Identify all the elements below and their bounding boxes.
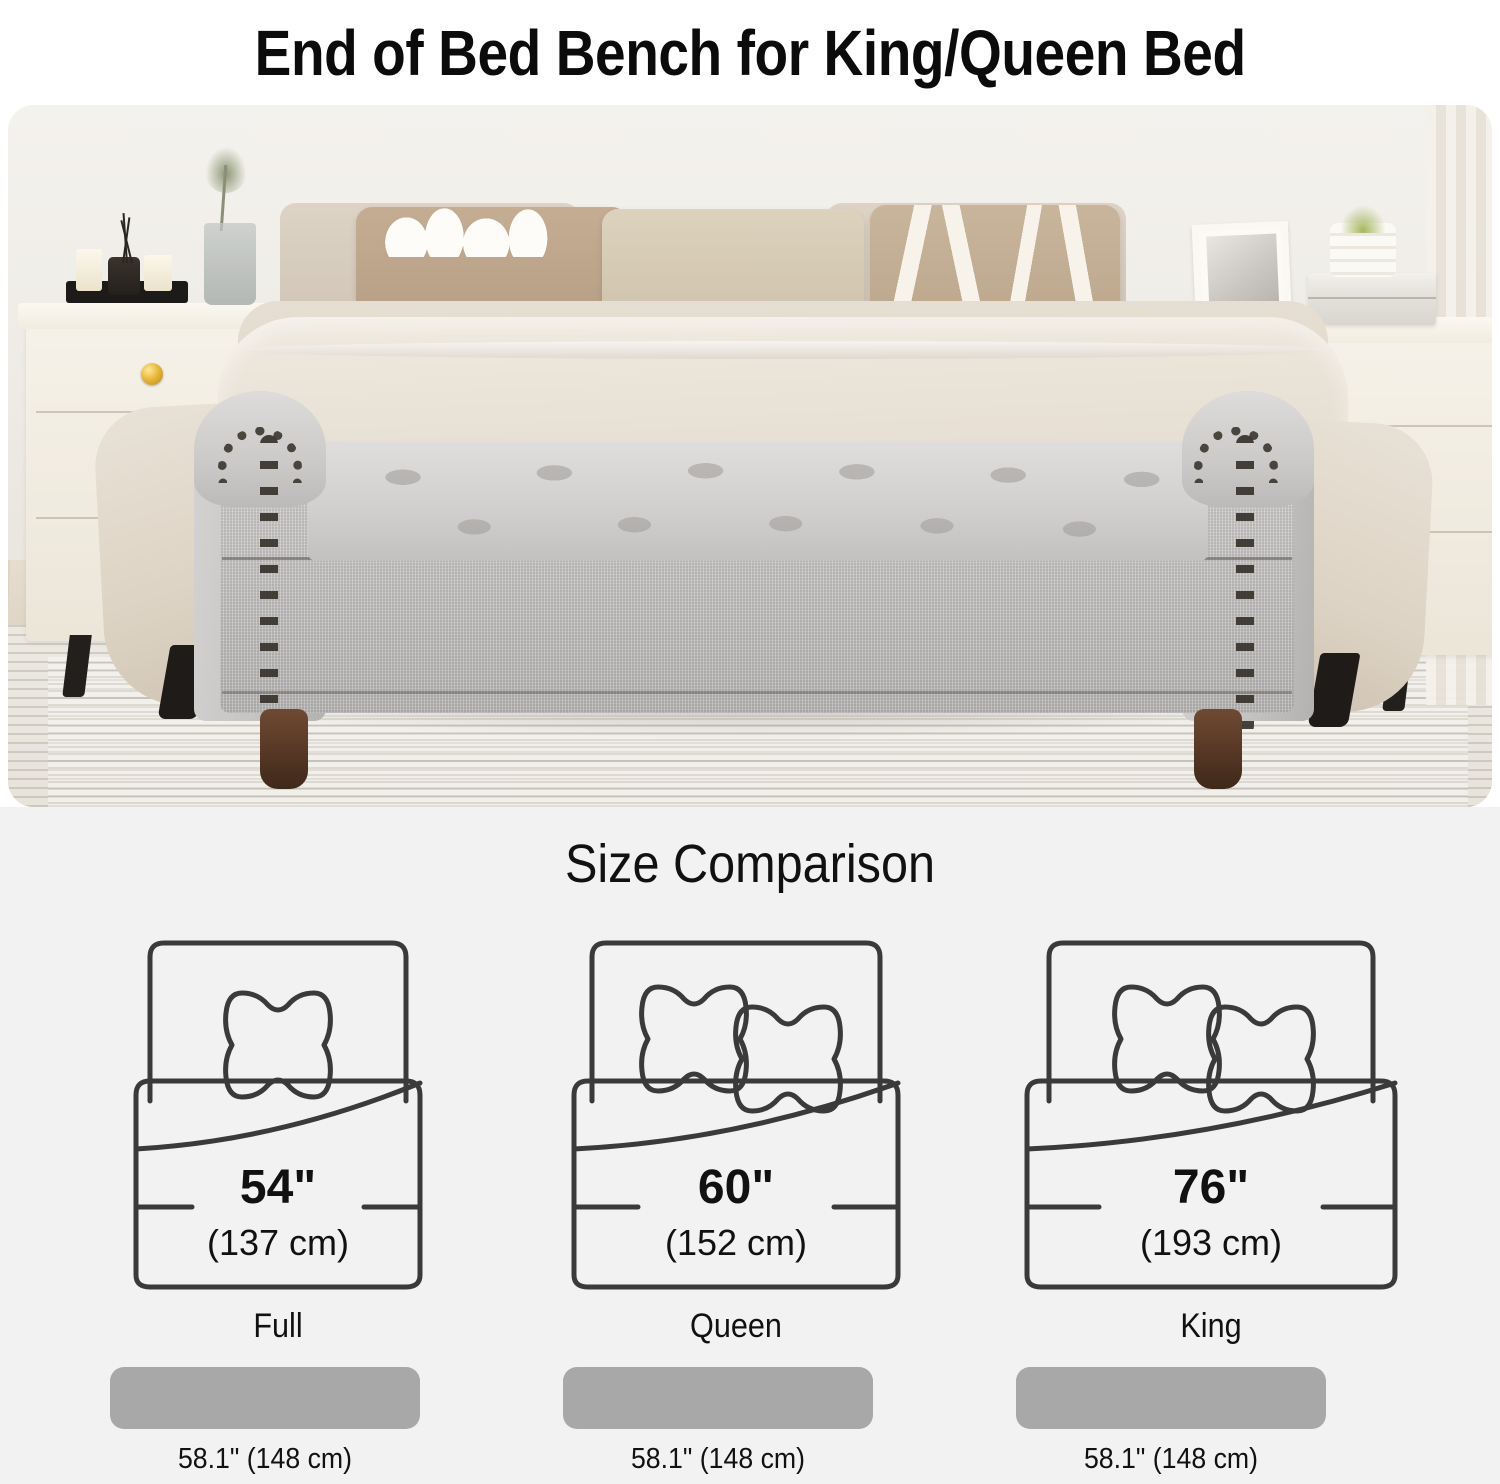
bed-outline-full-icon: 54" (137 cm) (128, 935, 428, 1295)
product-photo (8, 105, 1492, 807)
product-infographic: End of Bed Bench for King/Queen Bed (0, 0, 1500, 1484)
bed-width-cm: (137 cm) (207, 1222, 349, 1263)
bench-width-caption: 58.1" (148 cm) (109, 1443, 422, 1476)
pillow-embroidery (376, 205, 566, 257)
bench-wood-leg-left (260, 709, 308, 789)
bed-diagram-queen: 60" (152 cm) Queen (566, 935, 906, 1346)
bed-width-inches: 76" (1173, 1161, 1249, 1214)
bed-diagram-king: 76" (193 cm) King (1019, 935, 1403, 1346)
bed-outline-king-icon: 76" (193 cm) (1019, 935, 1403, 1295)
bench-width-caption: 58.1" (148 cm) (1015, 1443, 1328, 1476)
bench-width-bars-row: 58.1" (148 cm) 58.1" (148 cm) 58.1" (148… (0, 1367, 1500, 1484)
size-comparison-section: Size Comparison 54" (137 cm) Full (0, 807, 1500, 1484)
bed-diagram-full: 54" (137 cm) Full (128, 935, 428, 1346)
bench-width-caption: 58.1" (148 cm) (562, 1443, 875, 1476)
title-bar: End of Bed Bench for King/Queen Bed (0, 0, 1500, 105)
bench-width-bar (110, 1367, 420, 1429)
bed-diagrams-row: 54" (137 cm) Full 6 (0, 935, 1500, 1355)
bench-bar-group: 58.1" (148 cm) (548, 1367, 888, 1476)
bed-width-inches: 54" (240, 1161, 316, 1214)
glass-vase (204, 223, 256, 305)
bench-width-bar (1016, 1367, 1326, 1429)
bed-size-label-queen: Queen (583, 1307, 889, 1346)
bench-wood-leg-right (1194, 709, 1242, 789)
bed-width-inches: 60" (698, 1161, 774, 1214)
drawer-knob-icon (141, 363, 163, 385)
stacked-books (1308, 273, 1436, 325)
candle (144, 255, 172, 291)
bed-width-cm: (152 cm) (665, 1222, 807, 1263)
bed-size-label-king: King (1038, 1307, 1384, 1346)
nailhead-trim-right (1236, 435, 1254, 735)
bench-seam (222, 691, 1292, 694)
nailhead-trim-left (260, 435, 278, 735)
bench-bar-group: 58.1" (148 cm) (95, 1367, 435, 1476)
bench-width-bar (563, 1367, 873, 1429)
size-comparison-title: Size Comparison (75, 833, 1425, 895)
candle (76, 249, 102, 291)
bed-width-cm: (193 cm) (1140, 1222, 1282, 1263)
bed-outline-queen-icon: 60" (152 cm) (566, 935, 906, 1295)
bed-size-label-full: Full (143, 1307, 413, 1346)
bench-tufting-buttons (314, 447, 1204, 555)
book-seam (1308, 297, 1436, 299)
duvet-fold (238, 341, 1328, 359)
bench-bar-group: 58.1" (148 cm) (1001, 1367, 1341, 1476)
page-title: End of Bed Bench for King/Queen Bed (255, 21, 1246, 85)
small-plant (1340, 205, 1386, 233)
